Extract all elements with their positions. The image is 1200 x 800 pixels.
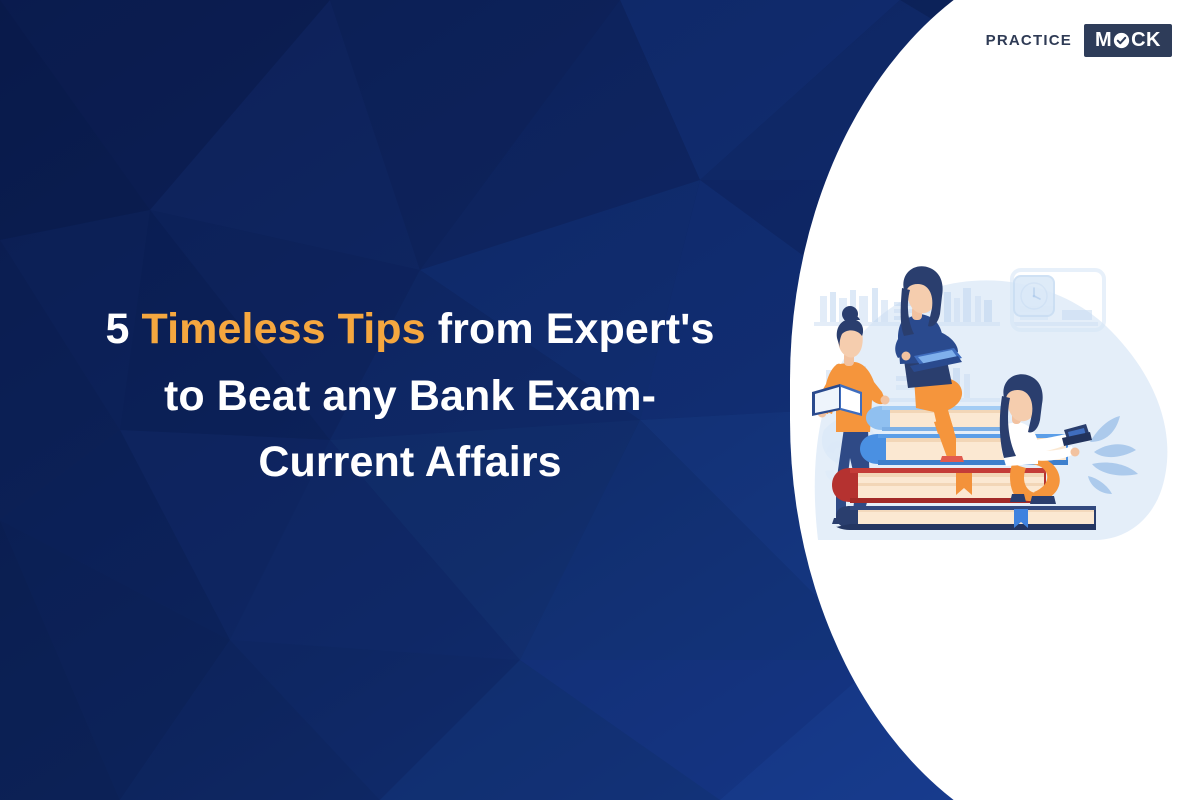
logo-mock-suffix: CK xyxy=(1131,30,1161,50)
page-title: 5 Timeless Tips from Expert's to Beat an… xyxy=(100,296,720,496)
headline-line4: Affairs xyxy=(425,438,562,486)
students-reading-illustration: 3 xyxy=(806,252,1178,540)
wall-clock-icon xyxy=(1014,276,1054,316)
headline-block: 5 Timeless Tips from Expert's to Beat an… xyxy=(0,296,820,496)
circle-check-icon xyxy=(1113,32,1130,49)
promo-banner: PRACTICE M CK 5 Timeless Tips from Exper… xyxy=(0,0,1200,800)
headline-line1-pre: 5 xyxy=(105,305,141,353)
headline-accent: Timeless Tips xyxy=(142,305,426,353)
brand-logo[interactable]: PRACTICE M CK xyxy=(986,24,1172,57)
logo-mock-prefix: M xyxy=(1095,30,1112,50)
headline-line1-post: from xyxy=(426,305,534,353)
logo-mock-badge: M CK xyxy=(1084,24,1172,57)
logo-practice-text: PRACTICE xyxy=(986,32,1072,49)
